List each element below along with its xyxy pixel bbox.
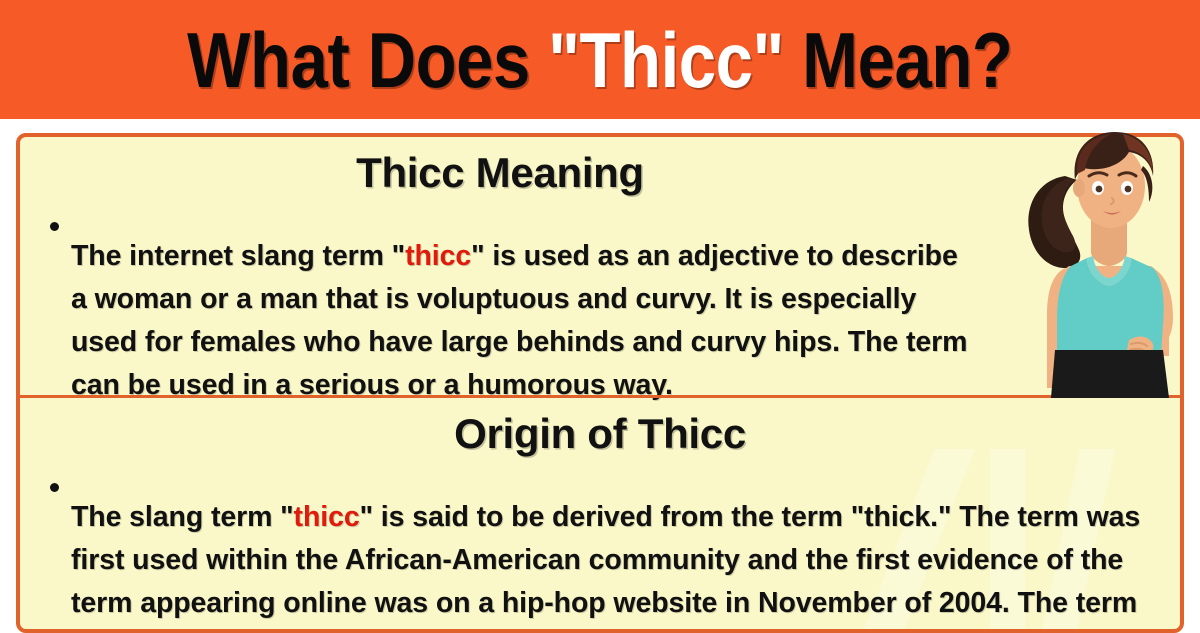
section-heading-origin: Origin of Thicc [42,398,1158,457]
keyword-thicc: thicc [294,501,360,533]
page-title-suffix: Mean? [784,16,1013,104]
section-heading-meaning: Thicc Meaning [42,137,1158,196]
content-card: Thicc Meaning The internet slang term "t… [16,133,1184,633]
list-item: The slang term "thicc" is said to be der… [42,467,1158,633]
keyword-thicc: thicc [405,240,471,272]
page-title-highlight: "Thicc" [548,16,784,104]
bullet-text-origin: The slang term "thicc" is said to be der… [71,496,1158,633]
section-origin-of-thicc: Origin of Thicc The slang term "thicc" i… [20,395,1180,633]
bullet-dot-icon [50,483,59,492]
page-title: What Does "Thicc" Mean? [187,21,1012,99]
bullet-dot-icon [50,222,59,231]
header-banner: What Does "Thicc" Mean? [0,0,1200,119]
bullet-text-part1: The slang term " [71,501,294,533]
section-thicc-meaning: Thicc Meaning The internet slang term "t… [20,137,1180,395]
bullet-text-meaning: The internet slang term "thicc" is used … [71,235,976,408]
page-title-prefix: What Does [187,16,548,104]
bullet-text-part1: The internet slang term " [71,240,405,272]
